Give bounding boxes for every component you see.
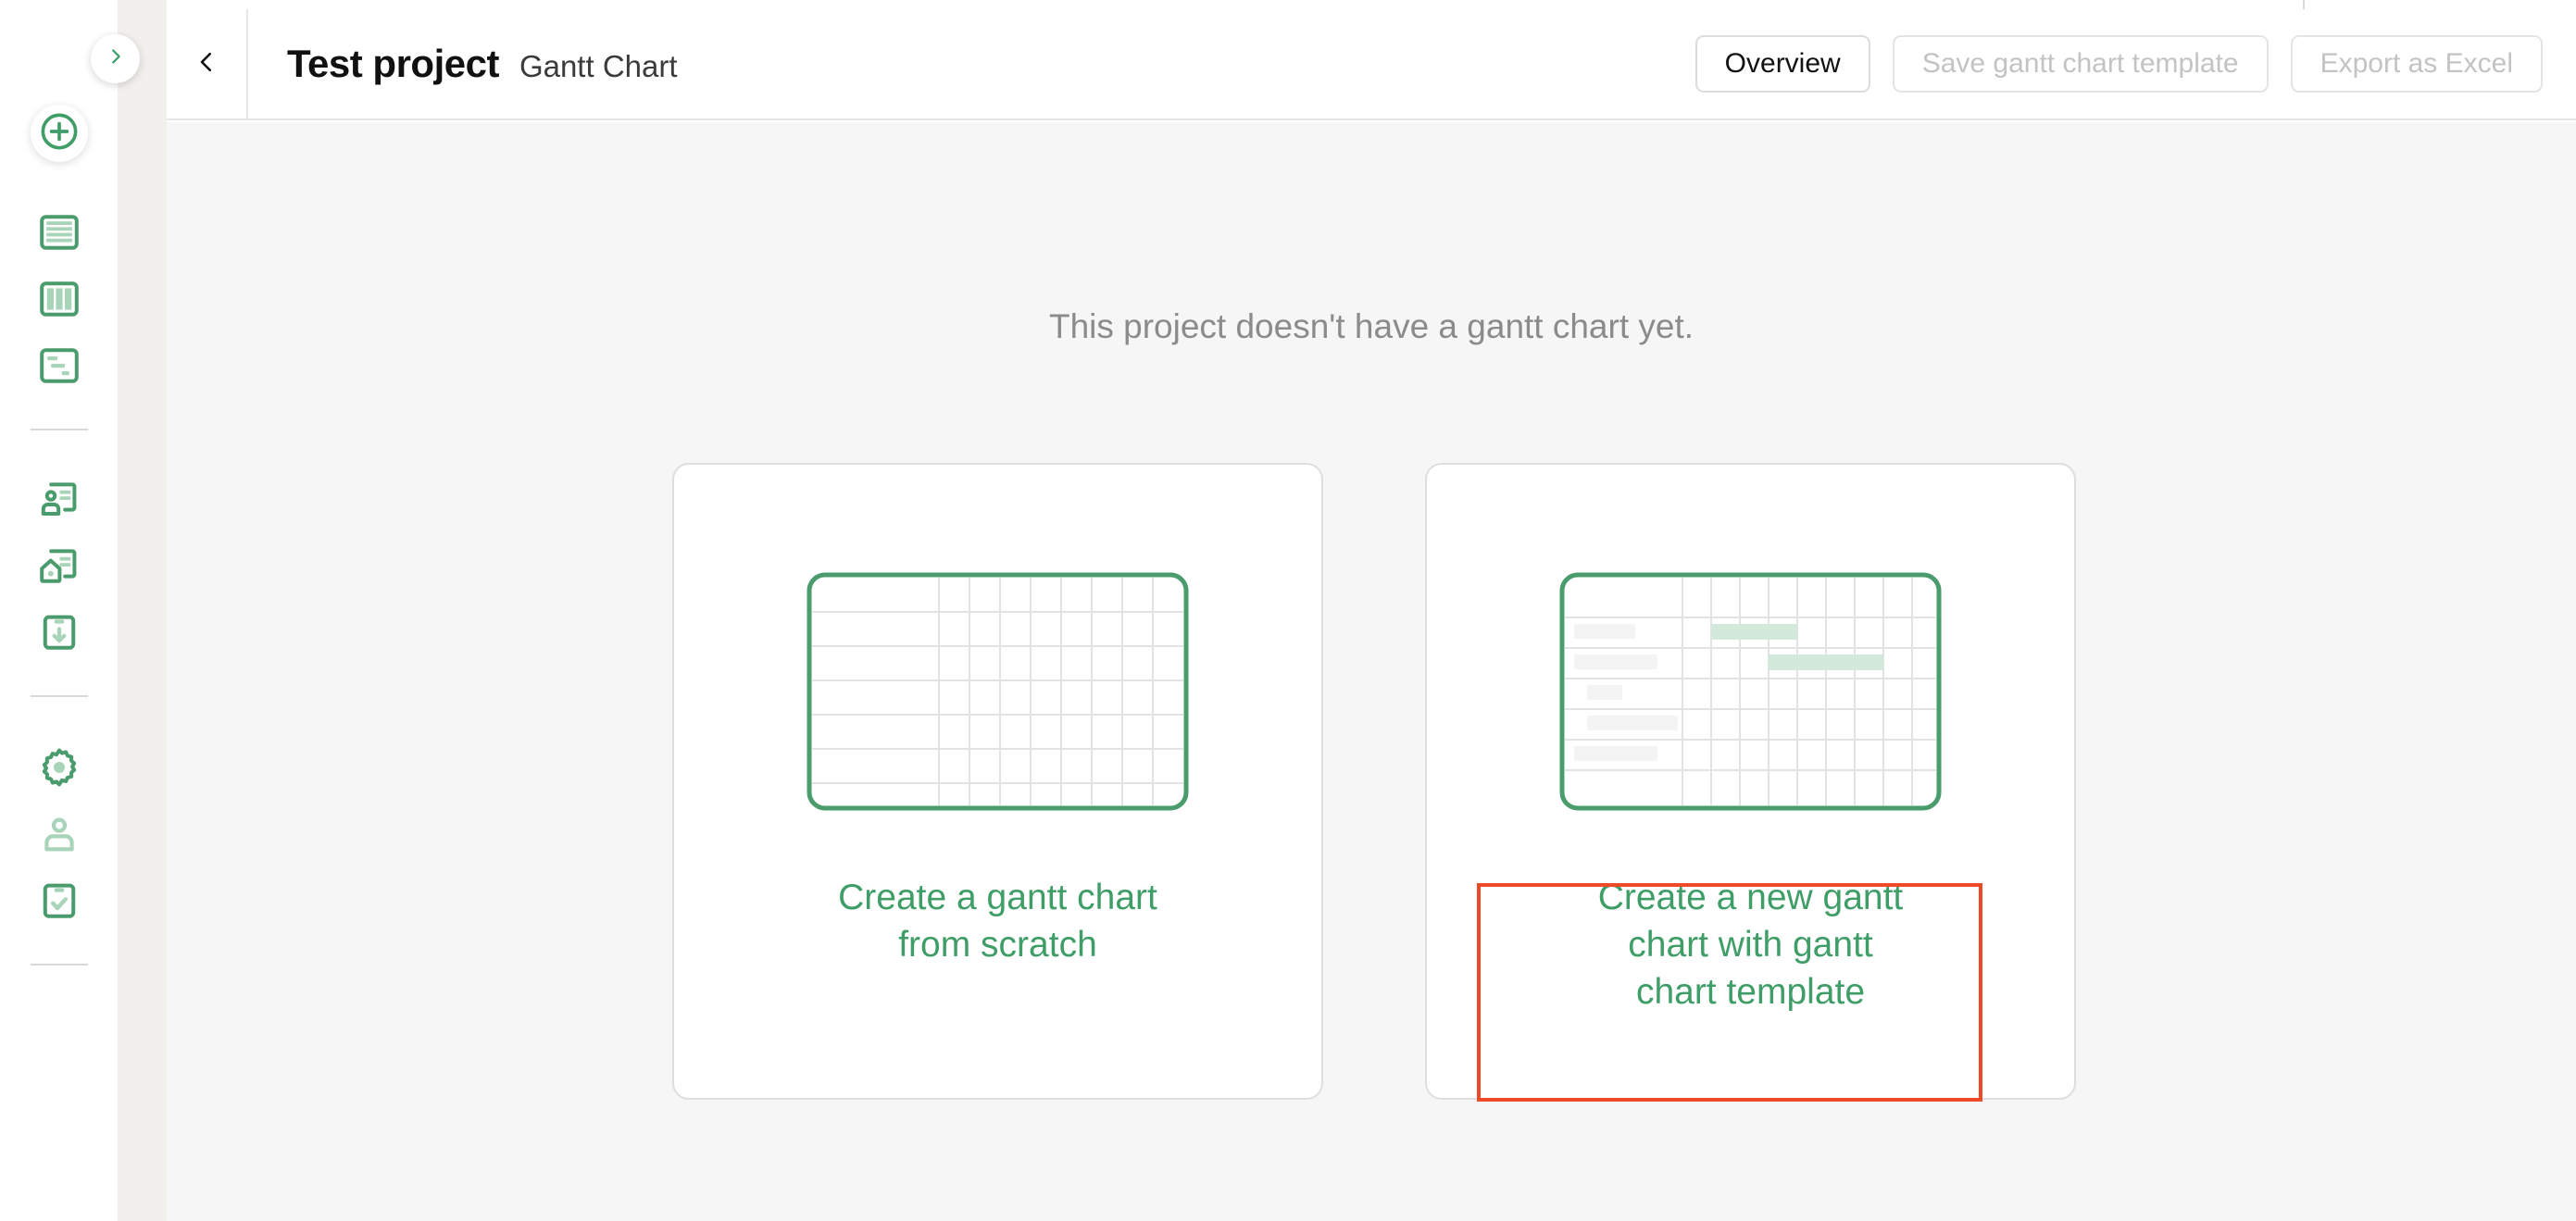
label-line-1: Create a gantt chart	[757, 879, 1239, 916]
plus-circle-icon	[38, 110, 81, 157]
create-options: Create a gantt chart from scratch	[672, 463, 2076, 1100]
empty-grid-illustration	[807, 572, 1189, 811]
label-line-2: chart with gantt	[1510, 927, 1992, 963]
gear-icon	[37, 745, 81, 794]
chevron-right-icon	[106, 46, 126, 71]
user-icon	[37, 812, 81, 861]
overview-button[interactable]: Overview	[1695, 35, 1870, 93]
list-view-icon	[37, 210, 81, 259]
clipboard-download-icon	[37, 610, 81, 659]
board-view-icon	[37, 277, 81, 326]
sidebar-group-settings	[0, 736, 118, 936]
sidebar-items	[0, 0, 118, 984]
page-title: Test project	[287, 42, 499, 86]
top-sliver	[0, 0, 2576, 9]
create-gantt-from-scratch-card[interactable]: Create a gantt chart from scratch	[672, 463, 1323, 1100]
sidebar-divider-2	[31, 695, 88, 697]
header-actions: Overview Save gantt chart template Expor…	[1695, 35, 2543, 93]
clipboard-check-icon	[37, 878, 81, 928]
sidebar-strip	[118, 0, 167, 1221]
sidebar-item-properties[interactable]	[26, 534, 93, 601]
back-button[interactable]	[167, 9, 248, 118]
sidebar-item-gantt-view[interactable]	[26, 334, 93, 401]
create-gantt-from-scratch-label: Create a gantt chart from scratch	[757, 879, 1239, 974]
sidebar-divider-1	[31, 429, 88, 430]
label-line-3: chart template	[1510, 974, 1992, 1010]
label-line-2: from scratch	[757, 927, 1239, 963]
view-name-label: Gantt Chart	[519, 49, 678, 84]
export-as-excel-button[interactable]: Export as Excel	[2291, 35, 2543, 93]
label-line-1: Create a new gantt	[1510, 879, 1992, 916]
sidebar-expand-button[interactable]	[91, 34, 140, 83]
create-gantt-with-template-label: Create a new gantt chart with gantt char…	[1510, 879, 1992, 1021]
sidebar-item-list-view[interactable]	[26, 201, 93, 268]
sidebar-item-imports[interactable]	[26, 601, 93, 667]
sidebar-item-profile[interactable]	[26, 803, 93, 869]
breadcrumb: Test project Gantt Chart	[287, 42, 678, 86]
gantt-template-illustration	[1559, 572, 1942, 811]
sidebar-item-settings[interactable]	[26, 736, 93, 803]
sidebar-group-views	[0, 201, 118, 401]
create-gantt-with-template-card[interactable]: Create a new gantt chart with gantt char…	[1425, 463, 2076, 1100]
home-document-icon	[37, 543, 81, 592]
app-root: Test project Gantt Chart Overview Save g…	[0, 0, 2576, 1221]
sidebar-item-board-view[interactable]	[26, 268, 93, 334]
add-button[interactable]	[31, 105, 88, 162]
page-header: Test project Gantt Chart Overview Save g…	[167, 9, 2576, 120]
save-gantt-chart-template-button[interactable]: Save gantt chart template	[1893, 35, 2269, 93]
sidebar-item-tasks[interactable]	[26, 869, 93, 936]
sidebar-item-contacts[interactable]	[26, 467, 93, 534]
top-sliver-divider	[2303, 0, 2305, 9]
main-content: This project doesn't have a gantt chart …	[167, 122, 2576, 1221]
sidebar-divider-3	[31, 964, 88, 966]
empty-state-message: This project doesn't have a gantt chart …	[167, 307, 2576, 346]
chevron-left-icon	[193, 48, 220, 81]
sidebar-group-records	[0, 467, 118, 667]
person-document-icon	[37, 477, 81, 526]
gantt-view-icon	[37, 343, 81, 392]
